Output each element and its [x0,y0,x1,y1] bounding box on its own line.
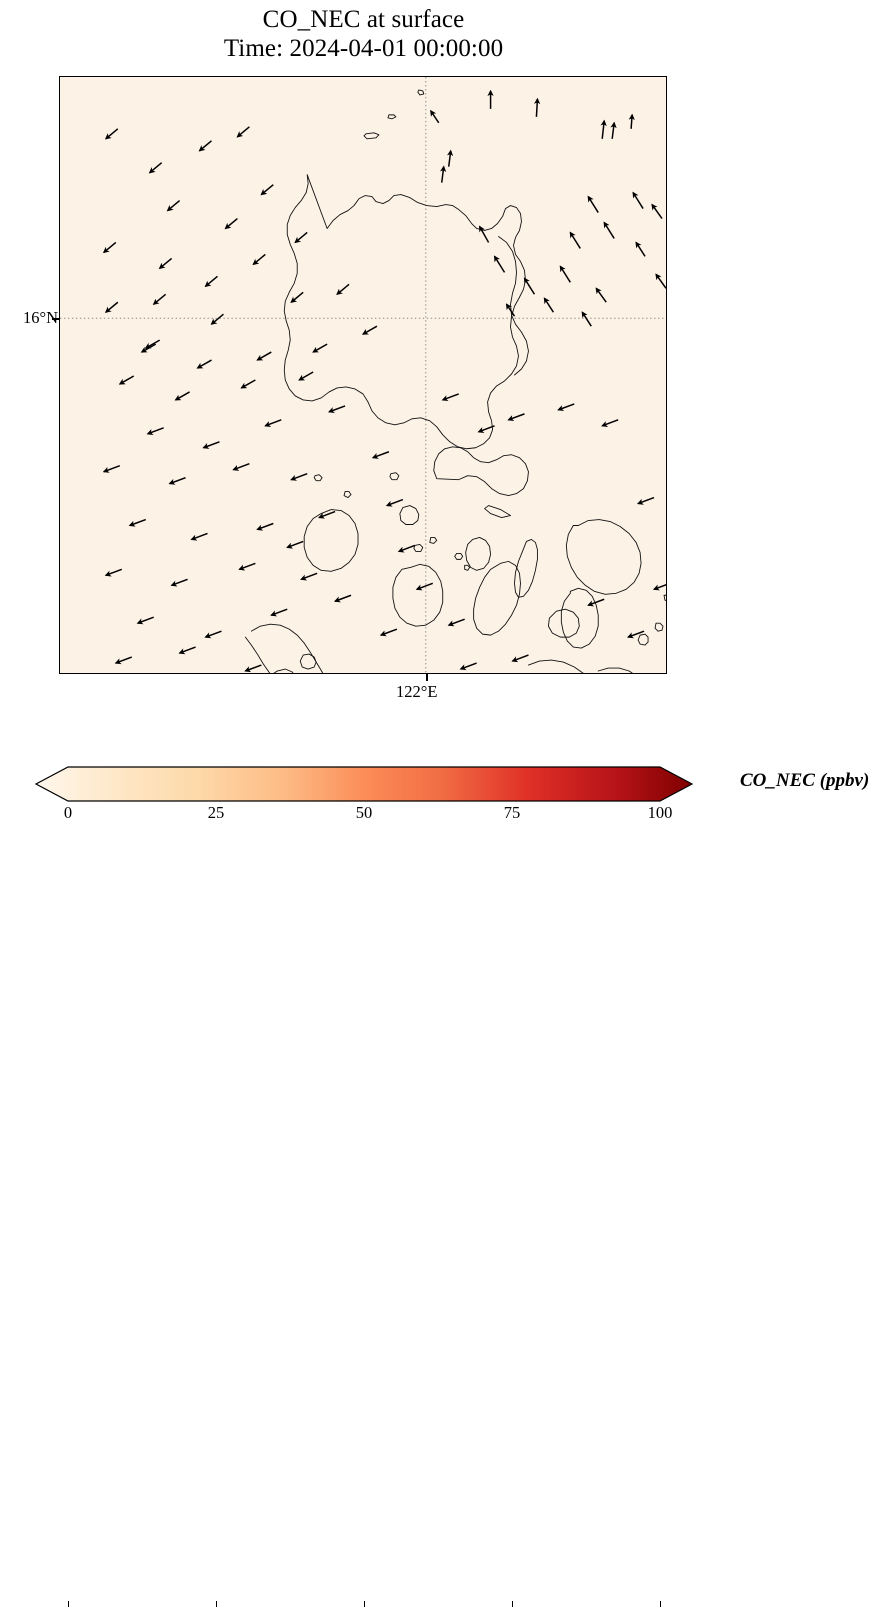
cbar-tick-mark-100 [660,1601,661,1607]
cbar-tick-label-50: 50 [356,803,373,823]
gridlines [60,77,666,673]
colorbar-canvas [36,765,692,803]
coast-babuyan-3 [418,90,424,95]
map-plot-area[interactable] [59,76,667,674]
coast-calamian-1 [270,669,296,673]
coast-romblon-2 [430,537,437,543]
cbar-tick-label-100: 100 [648,803,673,823]
coast-marinduque [400,506,419,525]
coast-samar [566,520,641,595]
coast-mindoro [304,510,358,572]
cbar-tick-mark-50 [364,1601,365,1607]
wind-vectors [104,91,666,671]
title-line-variable: CO_NEC at surface [0,6,727,35]
coast-dinagat [638,634,648,645]
coast-islet-5 [344,492,351,498]
cbar-tick-mark-0 [68,1601,69,1607]
coast-luzon [284,175,525,449]
coast-luzon-east-detail [499,236,529,375]
coast-panay [393,564,443,626]
xtick-label-122e: 122°E [396,682,437,702]
coast-islet-4 [314,475,322,481]
coast-islet-2 [465,565,470,570]
colorbar-tick-labels: 0 25 50 75 100 [0,803,886,831]
coast-cebu [515,539,538,597]
coast-siargao [655,623,663,631]
ytick-label-16n: 16°N [23,308,58,328]
colorbar[interactable] [36,765,692,803]
wind-arrow-group [104,91,666,671]
coast-mindanao-2 [598,668,659,673]
coast-leyte [561,588,598,648]
cbar-tick-mark-25 [216,1601,217,1607]
coast-masbate [466,537,491,570]
coast-negros [474,561,521,635]
xtick-mark-122e [426,674,428,681]
coast-romblon-1 [414,544,423,551]
cbar-tick-mark-75 [512,1601,513,1607]
cbar-tick-label-75: 75 [504,803,521,823]
coast-mindanao [528,660,620,673]
coast-babuyan-1 [364,133,379,139]
figure-title: CO_NEC at surface Time: 2024-04-01 00:00… [0,6,727,63]
coastlines [245,90,666,673]
coast-calamian-2 [300,654,316,669]
coast-islet-3 [390,473,399,480]
colorbar-label: CO_NEC (ppbv) [740,770,869,792]
coast-babuyan-2 [388,115,396,119]
coast-islet-1 [455,553,463,559]
coast-islet-8 [664,595,666,601]
cbar-tick-label-25: 25 [208,803,225,823]
colorbar-gradient-body [36,767,692,801]
coast-islet-6 [485,506,511,518]
map-canvas [60,77,666,673]
cbar-tick-label-0: 0 [64,803,72,823]
title-line-time: Time: 2024-04-01 00:00:00 [0,35,727,64]
coast-bicol [434,447,529,496]
